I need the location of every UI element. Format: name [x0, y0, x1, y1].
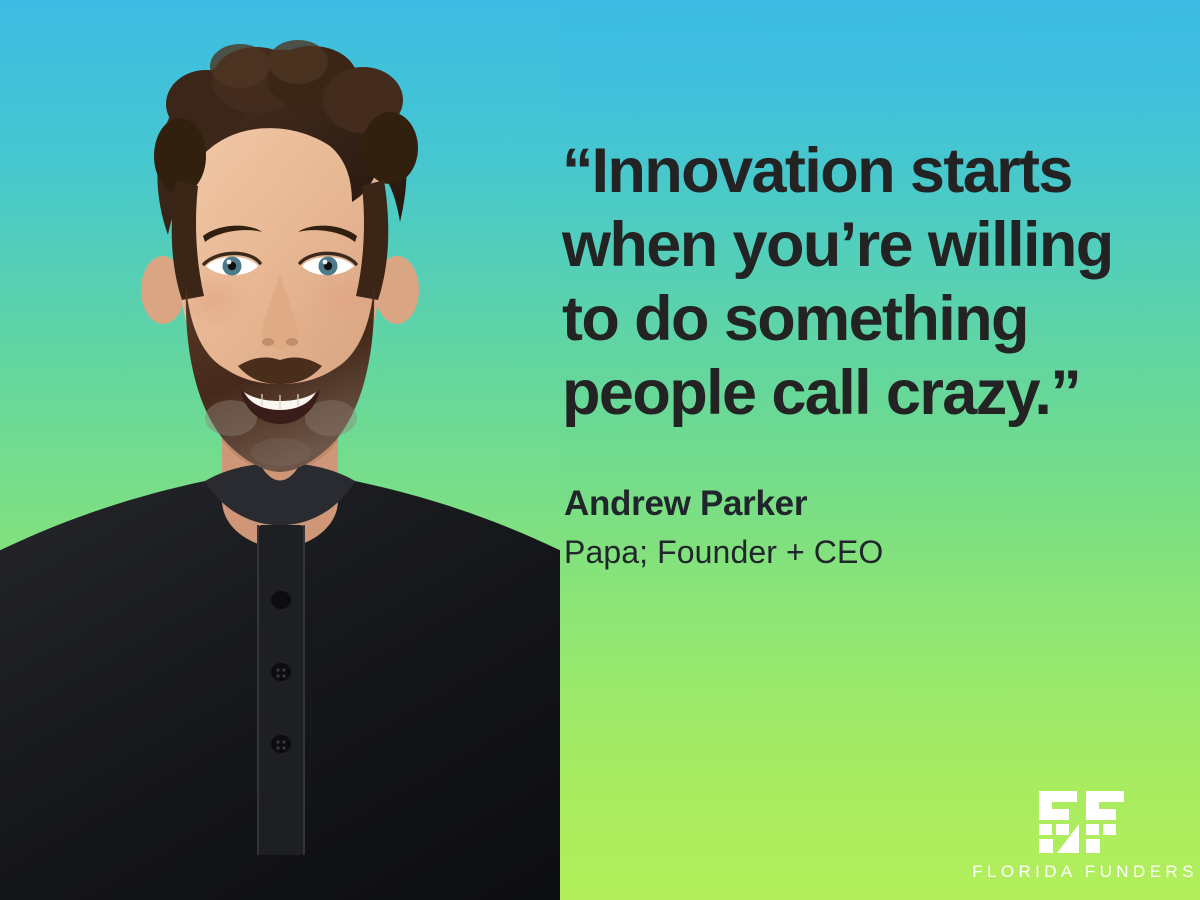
- quote-line-3: to do something: [562, 284, 1028, 354]
- ff-monogram-icon: [1039, 791, 1131, 853]
- close-quote-mark: ”: [1050, 358, 1080, 428]
- open-quote-mark: “: [562, 136, 592, 206]
- quote-card: “Innovation starts when you’re willing t…: [0, 0, 1200, 900]
- logo-wordmark: FLORIDA FUNDERS: [972, 862, 1198, 882]
- florida-funders-logo: FLORIDA FUNDERS: [980, 791, 1190, 882]
- quote-line-1: Innovation starts: [592, 136, 1072, 206]
- quote-line-4: people call crazy.: [562, 358, 1050, 428]
- quote-block: “Innovation starts when you’re willing t…: [562, 134, 1194, 430]
- attribution: Andrew Parker Papa; Founder + CEO: [564, 482, 1164, 572]
- portrait-photo: [0, 0, 560, 900]
- quote-text: “Innovation starts when you’re willing t…: [562, 134, 1194, 430]
- quote-line-2: when you’re willing: [562, 210, 1113, 280]
- attribution-role: Papa; Founder + CEO: [564, 532, 1164, 572]
- attribution-name: Andrew Parker: [564, 482, 1164, 526]
